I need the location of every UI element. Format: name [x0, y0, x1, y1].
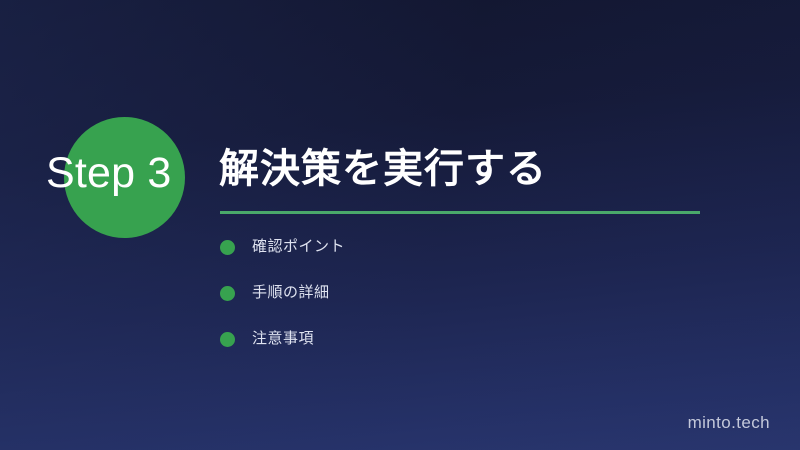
bullet-dot-icon: [220, 332, 235, 347]
slide-title: 解決策を実行する: [219, 143, 547, 195]
bullet-list: 確認ポイント 手順の詳細 注意事項: [220, 236, 345, 350]
title-divider: [220, 211, 700, 214]
bullet-dot-icon: [220, 240, 235, 255]
presentation-slide: Step 3 解決策を実行する 確認ポイント 手順の詳細 注意事項 minto.…: [0, 0, 800, 450]
list-item-label: 手順の詳細: [252, 283, 330, 303]
list-item-label: 確認ポイント: [252, 237, 345, 257]
step-badge-label: Step 3: [46, 150, 172, 196]
bullet-dot-icon: [220, 286, 235, 301]
list-item-label: 注意事項: [252, 329, 314, 349]
footer-brand: minto.tech: [688, 413, 770, 433]
list-item: 注意事項: [220, 328, 345, 350]
list-item: 確認ポイント: [220, 236, 345, 258]
list-item: 手順の詳細: [220, 282, 345, 304]
